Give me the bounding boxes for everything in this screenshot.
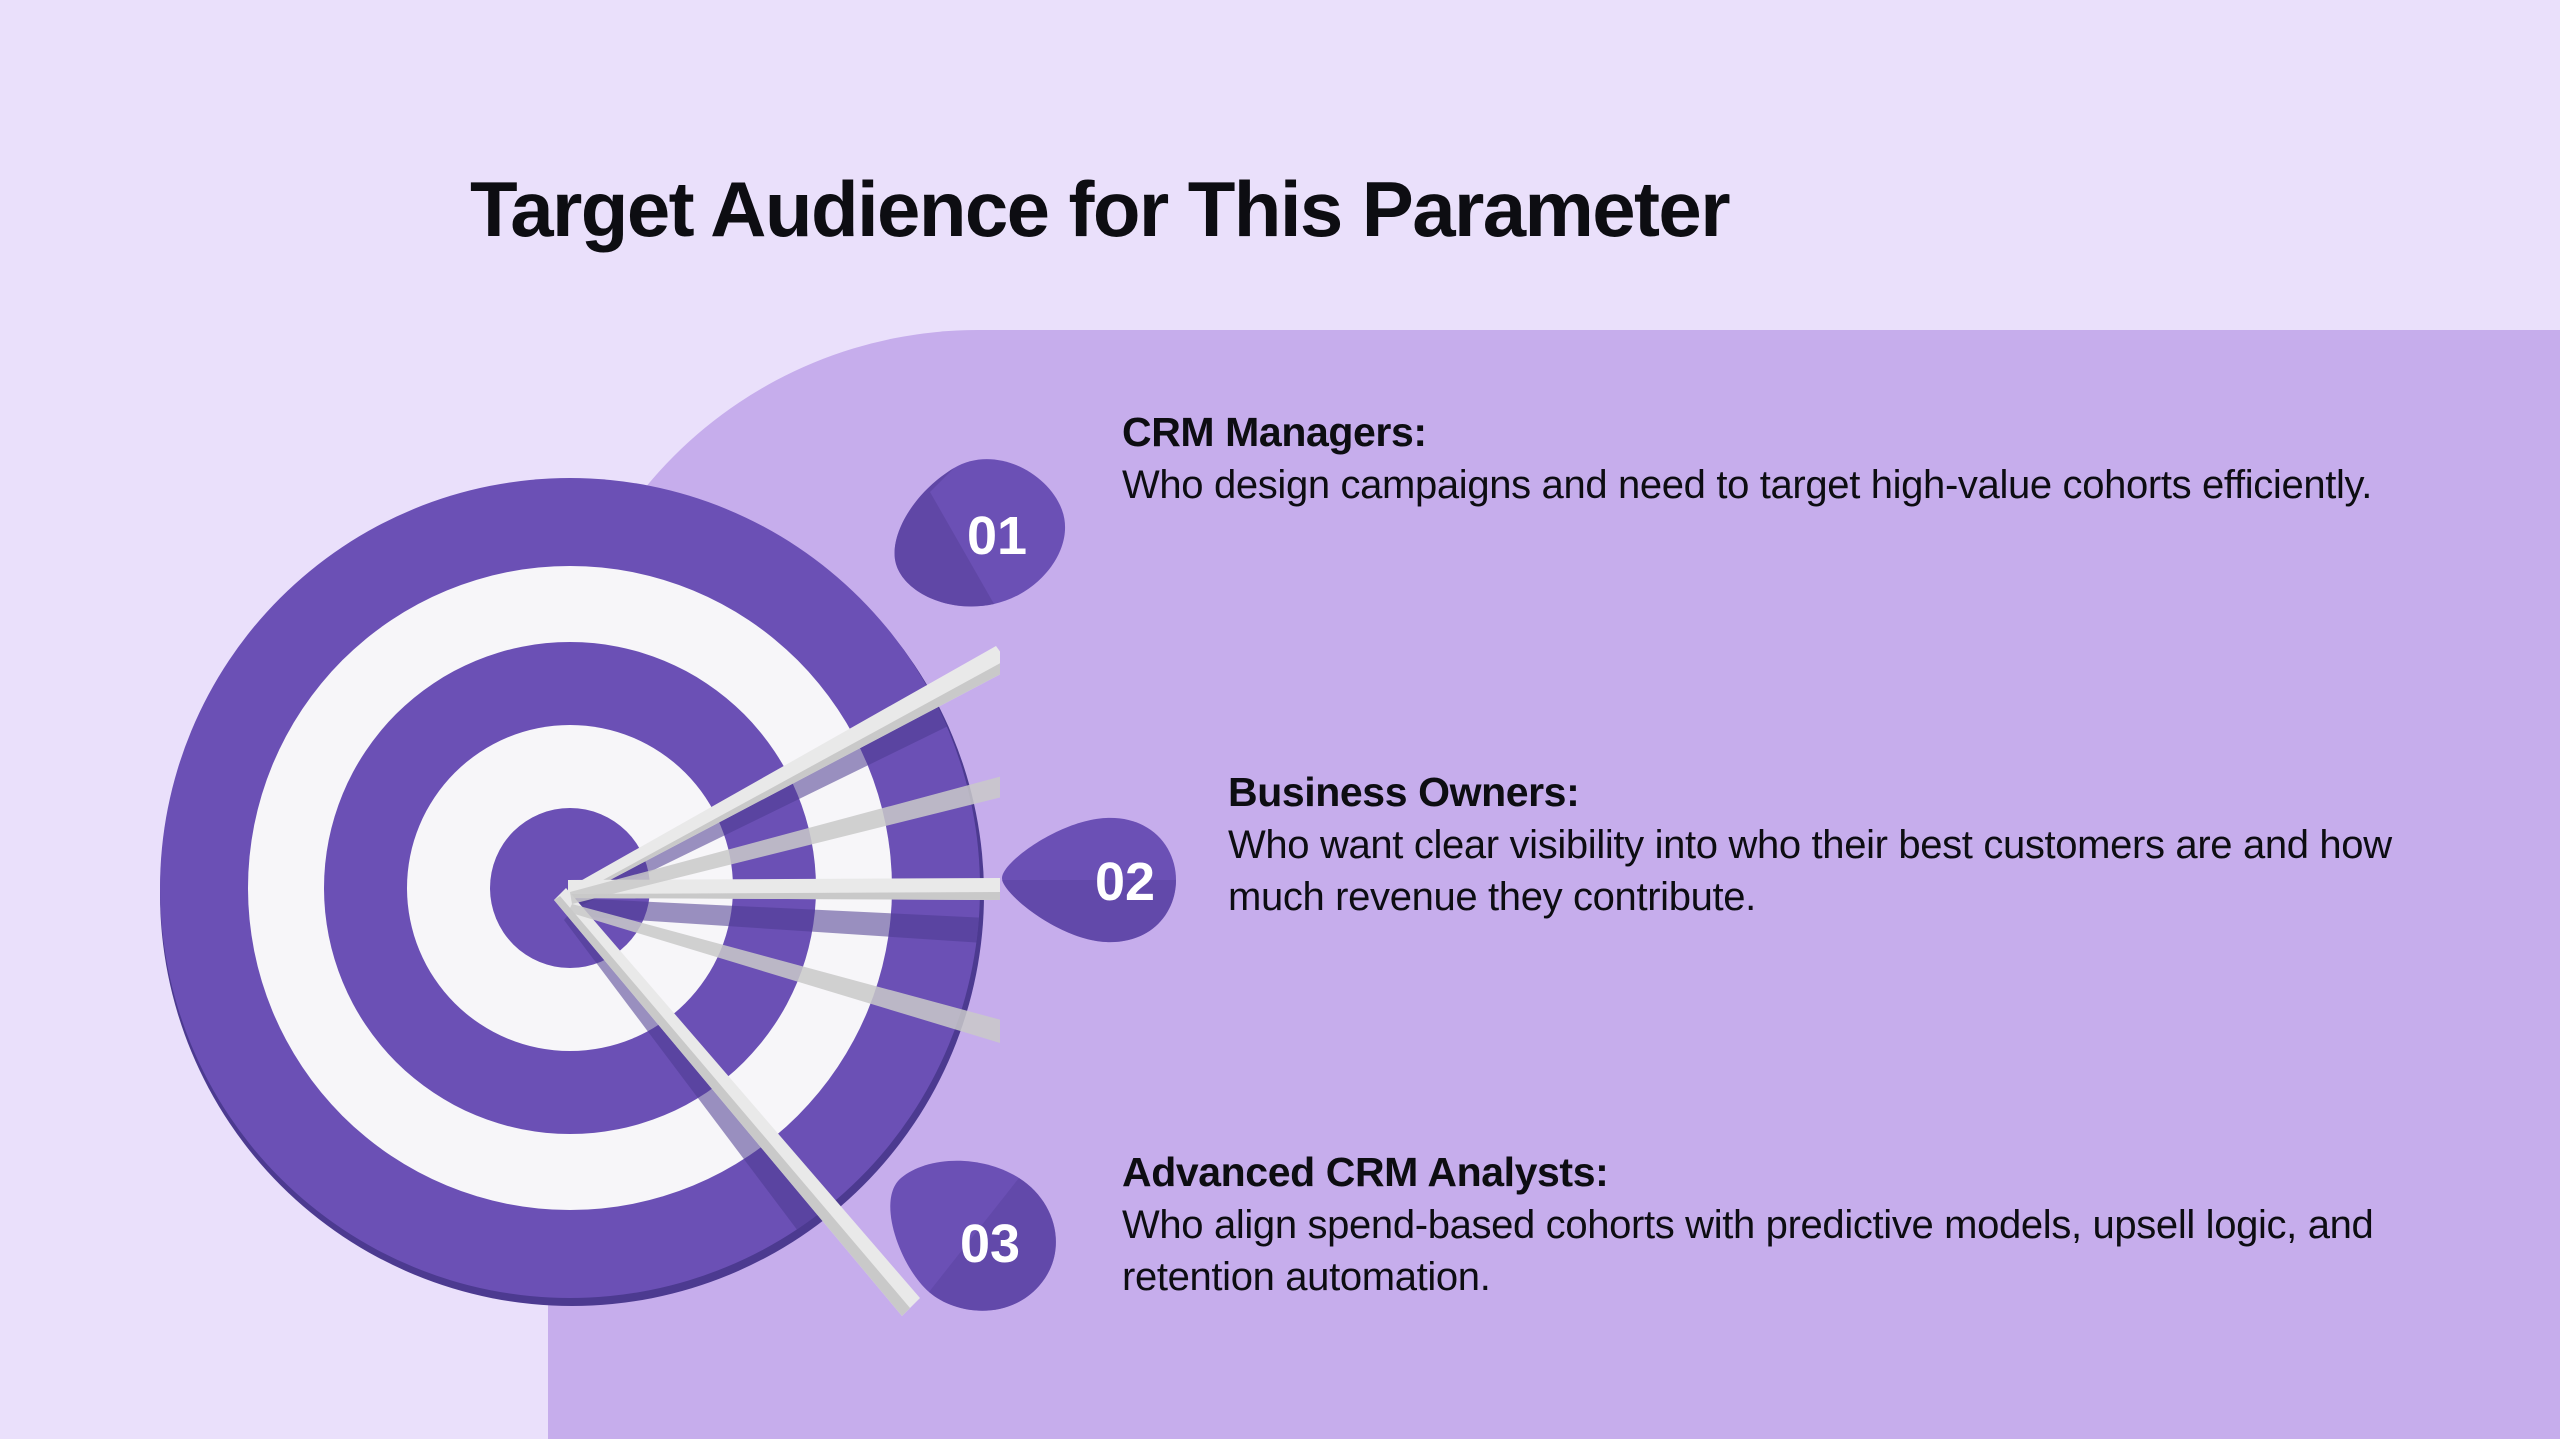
badge-number-02: 02 bbox=[1030, 802, 1220, 962]
audience-item-2: Business Owners: Who want clear visibili… bbox=[1228, 768, 2408, 923]
audience-item-3: Advanced CRM Analysts: Who align spend-b… bbox=[1122, 1148, 2452, 1303]
slide-root: Target Audience for This Parameter bbox=[0, 0, 2560, 1439]
page-title: Target Audience for This Parameter bbox=[470, 170, 2170, 250]
audience-item-2-body: Who want clear visibility into who their… bbox=[1228, 819, 2408, 923]
audience-item-2-heading: Business Owners: bbox=[1228, 768, 2408, 816]
audience-item-1: CRM Managers: Who design campaigns and n… bbox=[1122, 408, 2462, 511]
step-badge-01[interactable]: 01 bbox=[890, 452, 1080, 612]
audience-item-1-heading: CRM Managers: bbox=[1122, 408, 2462, 456]
audience-item-1-body: Who design campaigns and need to target … bbox=[1122, 459, 2462, 511]
audience-item-3-heading: Advanced CRM Analysts: bbox=[1122, 1148, 2452, 1196]
audience-item-3-body: Who align spend-based cohorts with predi… bbox=[1122, 1199, 2452, 1303]
step-badge-02[interactable]: 02 bbox=[1000, 800, 1190, 960]
step-badge-03[interactable]: 03 bbox=[885, 1158, 1075, 1318]
badge-number-03: 03 bbox=[895, 1164, 1085, 1324]
target-dartboard-graphic bbox=[150, 468, 1000, 1320]
badge-number-01: 01 bbox=[902, 456, 1092, 616]
